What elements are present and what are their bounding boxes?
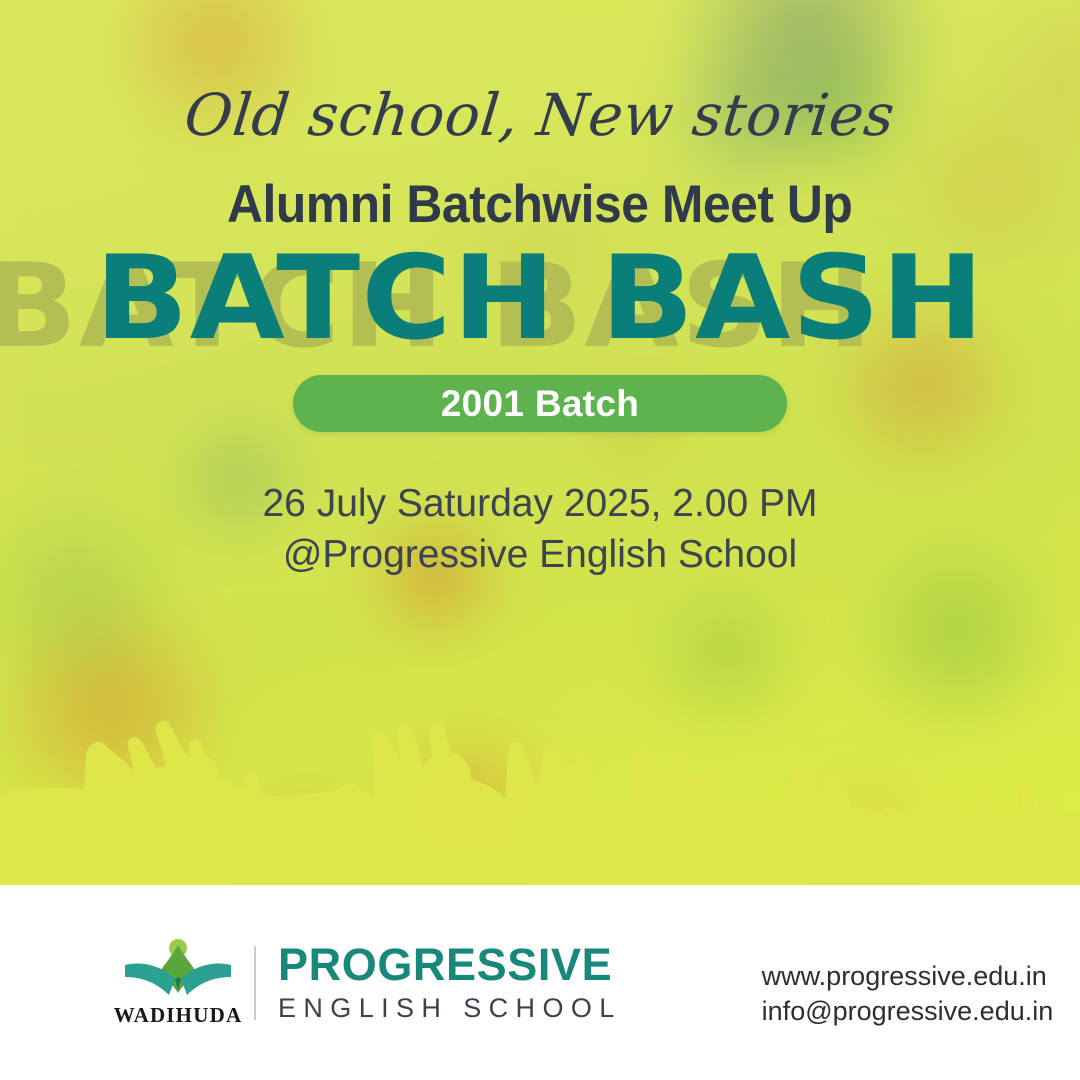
poster-title: BATCH BASH xyxy=(95,241,985,357)
book-flame-icon xyxy=(123,939,233,1001)
poster-content: Old school, New stories Alumni Batchwise… xyxy=(0,0,1080,885)
brand-divider xyxy=(254,946,256,1020)
email-text: info@progressive.edu.in xyxy=(762,994,1054,1029)
poster-footer: WADIHUDA PROGRESSIVE ENGLISH SCHOOL www.… xyxy=(0,885,1080,1080)
wadihuda-label: WADIHUDA xyxy=(114,1005,243,1026)
website-text: www.progressive.edu.in xyxy=(762,959,1054,994)
poster-subtitle: Alumni Batchwise Meet Up xyxy=(227,178,852,231)
poster-title-block: BATCH BASH BATCH BASH xyxy=(0,239,1080,359)
batch-badge-label: 2001 Batch xyxy=(441,385,639,422)
event-datetime: 26 July Saturday 2025, 2.00 PM xyxy=(262,478,817,529)
event-venue: @Progressive English School xyxy=(262,529,817,580)
batch-badge: 2001 Batch xyxy=(293,375,787,432)
poster-artwork: Old school, New stories Alumni Batchwise… xyxy=(0,0,1080,885)
school-name-primary: PROGRESSIVE xyxy=(278,941,622,988)
event-details: 26 July Saturday 2025, 2.00 PM @Progress… xyxy=(262,478,817,581)
contact-block: www.progressive.edu.in info@progressive.… xyxy=(762,959,1054,1028)
school-name-block: PROGRESSIVE ENGLISH SCHOOL xyxy=(278,941,622,1025)
poster-tagline: Old school, New stories xyxy=(182,86,898,144)
school-name-secondary: ENGLISH SCHOOL xyxy=(278,992,622,1024)
brand-lockup: WADIHUDA PROGRESSIVE ENGLISH SCHOOL xyxy=(120,939,622,1026)
event-poster: Old school, New stories Alumni Batchwise… xyxy=(0,0,1080,1080)
wadihuda-emblem: WADIHUDA xyxy=(120,939,236,1026)
